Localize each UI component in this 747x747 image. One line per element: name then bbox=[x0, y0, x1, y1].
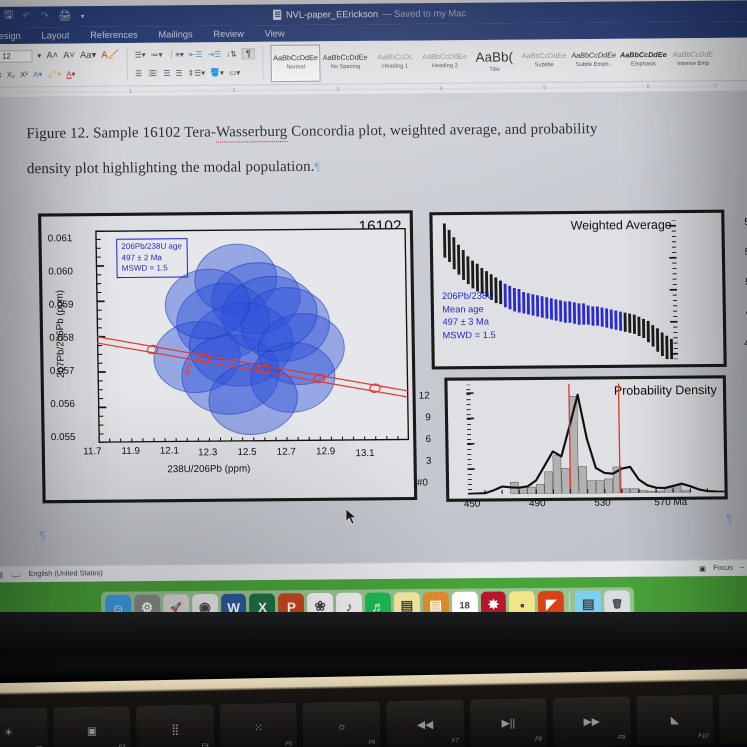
paragraph-mark-icon: ¶ bbox=[39, 528, 46, 543]
style-subtitle[interactable]: AaBbCcDdEe Subtitle bbox=[519, 42, 569, 80]
function-key[interactable]: ▶||F8 bbox=[469, 698, 547, 747]
y-tick-label: 9 bbox=[425, 412, 431, 423]
book-icon[interactable]: 📖 bbox=[11, 570, 20, 578]
x-tick-label: 12.9 bbox=[316, 446, 335, 458]
paragraph-mark-icon: ¶ bbox=[314, 159, 320, 174]
function-key-glyph-icon: ◀◀ bbox=[417, 719, 434, 731]
x-tick-label: 570 Ma bbox=[654, 497, 687, 509]
focus-icon[interactable]: ▣ bbox=[699, 564, 706, 572]
style-name: Heading 2 bbox=[432, 63, 458, 69]
tab-mailings[interactable]: Mailings bbox=[158, 29, 192, 40]
laptop-photo: ⌃ ⌅ ▱ ◀)) 87% NVL-paper_EErickson — Save… bbox=[0, 0, 747, 747]
align-left-icon[interactable]: ☰ bbox=[135, 70, 142, 78]
style-title[interactable]: AaBb( Title bbox=[469, 42, 519, 80]
page-icon[interactable]: ▤ bbox=[0, 570, 3, 578]
style-heading-2[interactable]: AaBbCcDdEe Heading 2 bbox=[420, 43, 470, 81]
caption-misspelled-word: Wasserburg bbox=[216, 123, 288, 142]
figure-caption: Figure 12. Sample 16102 Tera-Wasserburg … bbox=[26, 110, 731, 187]
dock-icon-glyph: ◤ bbox=[546, 596, 557, 613]
align-right-icon[interactable]: ☰ bbox=[163, 69, 170, 77]
function-key[interactable]: ⁙F5 bbox=[220, 703, 298, 747]
text-effects-icon[interactable]: A▾ bbox=[33, 70, 42, 78]
function-key[interactable]: ☼F6 bbox=[303, 701, 381, 747]
style-name: Emphasis bbox=[631, 61, 656, 67]
function-key[interactable]: ☀F2 bbox=[0, 708, 48, 747]
undo-icon[interactable]: ↶ bbox=[22, 11, 31, 22]
function-key-glyph-icon: ▶▶ bbox=[583, 716, 600, 728]
function-key-glyph-icon: ⁙ bbox=[254, 722, 263, 734]
quick-access-toolbar[interactable]: 🗅 🖫 ↶ ↷ 🖨 ▾ bbox=[0, 7, 85, 25]
concordia-plot-panel: 16102 0.061 0.060 0.059 0.058 0.057 0.05… bbox=[38, 210, 417, 503]
function-key-glyph-icon: ▶|| bbox=[501, 717, 515, 729]
probability-density-panel: Probability Density 12 9 6 3 #0 450 490 … bbox=[444, 375, 727, 502]
function-key[interactable]: ▶▶F9 bbox=[553, 697, 631, 747]
multilevel-list-icon[interactable]: ⋮≡▾ bbox=[168, 51, 184, 59]
save-icon[interactable]: 🖫 bbox=[4, 8, 13, 26]
y-tick-label: 0.061 bbox=[48, 233, 73, 245]
weighted-average-annotation: 206Pb/238U Mean age 497 ± 3 Ma MSWD = 1.… bbox=[442, 289, 496, 341]
ruler-mark: 1 bbox=[129, 88, 132, 94]
style-preview: AaBb( bbox=[475, 49, 513, 65]
x-tick-label: 11.7 bbox=[83, 446, 102, 458]
ruler-mark: 5 bbox=[543, 84, 546, 90]
style-preview: AaBbCcDdEe bbox=[620, 52, 667, 60]
style-preview: AaBbCcDdEe bbox=[522, 53, 567, 61]
style-emphasis[interactable]: AaBbCcDdEe Emphasis bbox=[618, 41, 668, 79]
x-tick-label: 12.5 bbox=[237, 447, 256, 459]
y-tick-label: 6 bbox=[426, 434, 432, 445]
style-subtle-emphasis[interactable]: AaBbCcDdEe Subtle Emph.. bbox=[569, 41, 619, 79]
x-tick-label: 450 bbox=[464, 498, 481, 510]
highlight-icon[interactable]: 🖍▾ bbox=[47, 70, 61, 78]
align-center-icon[interactable]: ☰ bbox=[147, 69, 158, 77]
style-name: Title bbox=[489, 67, 500, 73]
font-color-icon[interactable]: A▾ bbox=[66, 70, 75, 78]
weighted-average-panel: Weighted Average 206Pb/238U Mean age 497… bbox=[429, 210, 726, 370]
function-key-glyph-icon: ◣ bbox=[671, 714, 679, 726]
style-name: Normal bbox=[286, 64, 304, 70]
superscript-icon[interactable]: X² bbox=[20, 71, 28, 79]
tab-review[interactable]: Review bbox=[213, 29, 244, 40]
style-name: Subtle Emph.. bbox=[576, 62, 612, 69]
window-title: NVL-paper_EErickson bbox=[286, 9, 378, 20]
strikethrough-icon[interactable]: abc bbox=[0, 71, 2, 79]
style-preview: AaBbCcDdEe bbox=[273, 55, 318, 63]
function-key-glyph-icon: ⣿ bbox=[171, 724, 179, 736]
function-key-glyph-icon: ☼ bbox=[337, 721, 347, 733]
function-key-label: F6 bbox=[368, 740, 375, 746]
status-language[interactable]: English (United States) bbox=[28, 570, 102, 578]
styles-gallery[interactable]: AaBbCcDdEe Normal AaBbCcDdEe No Spacing … bbox=[266, 38, 718, 84]
ruler-mark: 7 bbox=[714, 83, 717, 89]
dock-icon-glyph: ▤ bbox=[582, 596, 595, 613]
ruler-mark: 3 bbox=[336, 86, 339, 92]
ribbon-body: ▾ 12 ▾ A˄ A˅ Aa▾ A🧹 abc X₂ X² A▾ 🖍▾ A▾ bbox=[0, 38, 747, 88]
y-tick-label: 3 bbox=[426, 455, 432, 466]
annotation-line: Mean age bbox=[442, 302, 495, 315]
style-no-spacing[interactable]: AaBbCcDdEe No Spacing bbox=[320, 44, 370, 82]
function-key-glyph-icon: ▣ bbox=[87, 725, 97, 737]
paragraph-mark-icon: ¶ bbox=[726, 512, 733, 527]
caption-part-2: Concordia plot, weighted average, and pr… bbox=[287, 121, 597, 140]
ruler-mark: 6 bbox=[647, 83, 650, 89]
function-key-glyph-icon: ☀ bbox=[4, 727, 14, 739]
dock-icon-glyph: 🗑 bbox=[611, 598, 623, 609]
dock-icon-glyph: ▪ bbox=[520, 597, 525, 613]
x-tick-label: 530 bbox=[594, 497, 611, 509]
annotation-line: MSWD = 1.5 bbox=[122, 263, 183, 274]
font-group: ▾ 12 ▾ A˄ A˅ Aa▾ A🧹 abc X₂ X² A▾ 🖍▾ A▾ bbox=[0, 43, 124, 87]
ruler-mark: 2 bbox=[233, 87, 236, 93]
zoom-out-icon[interactable]: − bbox=[740, 564, 744, 571]
y-tick-label: 0.055 bbox=[51, 432, 76, 444]
increase-indent-icon[interactable]: ⇥☰ bbox=[208, 50, 222, 58]
word-doc-icon bbox=[273, 10, 281, 20]
tab-design[interactable]: Design bbox=[0, 31, 21, 42]
function-key-row[interactable]: ☀F2▣F3⣿F4⁙F5☼F6◀◀F7▶||F8▶▶F9◣F10◢F11 bbox=[0, 693, 747, 747]
font-size-chevron-icon[interactable]: ▾ bbox=[37, 52, 41, 60]
print-icon[interactable]: 🖨 bbox=[58, 10, 71, 21]
style-name: Subtitle bbox=[535, 62, 554, 68]
function-key-label: F8 bbox=[535, 736, 542, 742]
function-key-label: F9 bbox=[618, 735, 625, 741]
decrease-indent-icon[interactable]: ⇤☰ bbox=[189, 50, 203, 58]
function-key-label: F7 bbox=[452, 738, 459, 744]
annotation-line: 206Pb/238U bbox=[442, 289, 495, 302]
x-tick-label: 12.7 bbox=[277, 446, 296, 458]
shrink-font-icon[interactable]: A˅ bbox=[63, 51, 75, 60]
line-spacing-icon[interactable]: ⇕☰▾ bbox=[188, 69, 205, 77]
redo-icon[interactable]: ↷ bbox=[40, 11, 49, 22]
laptop-screen: ⌃ ⌅ ▱ ◀)) 87% NVL-paper_EErickson — Save… bbox=[0, 0, 747, 645]
change-case-icon[interactable]: Aa▾ bbox=[80, 51, 96, 60]
justify-icon[interactable]: ☰ bbox=[176, 69, 183, 77]
x-tick-label: 12.1 bbox=[160, 445, 179, 457]
dock-icon-glyph: 18 bbox=[459, 600, 470, 610]
tab-references[interactable]: References bbox=[90, 29, 138, 40]
annotation-line: 206Pb/238U age bbox=[121, 241, 182, 252]
style-preview: AaBbCcDc bbox=[377, 54, 413, 62]
function-key[interactable]: ◢F11 bbox=[719, 693, 747, 743]
style-preview: AaBbCcDdEe bbox=[571, 52, 616, 60]
borders-icon[interactable]: ▭▾ bbox=[229, 69, 240, 77]
tab-view[interactable]: View bbox=[265, 28, 285, 39]
style-preview: AaBbCcDdEe bbox=[422, 54, 467, 62]
font-size-input[interactable]: 12 bbox=[0, 50, 32, 63]
function-key-label: F4 bbox=[202, 743, 209, 747]
function-key[interactable]: ⣿F4 bbox=[136, 705, 214, 747]
concordia-y-axis-label: 207Pb/206Pb (ppm) bbox=[54, 266, 68, 403]
keyboard-deck: ☀F2▣F3⣿F4⁙F5☼F6◀◀F7▶||F8▶▶F9◣F10◢F11 bbox=[0, 668, 747, 747]
shading-icon[interactable]: 🪣▾ bbox=[210, 69, 224, 77]
window-save-state: — Saved to my Mac bbox=[382, 8, 466, 19]
concordia-x-axis-label: 238U/206Pb (ppm) bbox=[167, 463, 250, 475]
style-preview: AaBbCcDdE bbox=[673, 51, 714, 59]
x-tick-label: 11.9 bbox=[121, 446, 140, 458]
function-key-label: F5 bbox=[285, 741, 292, 747]
focus-label[interactable]: Focus bbox=[713, 565, 733, 572]
concordia-annotation-box: 206Pb/238U age 497 ± 2 Ma MSWD = 1.5 bbox=[116, 238, 188, 277]
function-key[interactable]: ▣F3 bbox=[53, 706, 131, 747]
sort-icon[interactable]: ↓⇅ bbox=[226, 50, 237, 58]
style-intense-emphasis[interactable]: AaBbCcDdE Intense Emp bbox=[668, 40, 718, 78]
grow-font-icon[interactable]: A˄ bbox=[46, 51, 58, 60]
function-key[interactable]: ◣F10 bbox=[636, 695, 714, 745]
style-name: No Spacing bbox=[331, 64, 361, 70]
style-normal[interactable]: AaBbCcDdEe Normal bbox=[271, 44, 321, 82]
document-page[interactable]: Figure 12. Sample 16102 Tera-Wasserburg … bbox=[0, 91, 747, 582]
style-name: Heading 1 bbox=[382, 63, 408, 69]
customize-chevron-icon[interactable]: ▾ bbox=[81, 12, 85, 20]
ruler-mark: 4 bbox=[440, 85, 443, 91]
x-tick-label: 490 bbox=[529, 498, 546, 510]
x-tick-label: 13.1 bbox=[355, 448, 374, 460]
caption-line-2: density plot highlighting the modal popu… bbox=[27, 158, 315, 177]
function-key-label: F10 bbox=[698, 733, 708, 740]
function-key[interactable]: ◀◀F7 bbox=[386, 700, 464, 747]
y-tick-label: 12 bbox=[419, 390, 430, 401]
screen-bezel bbox=[0, 612, 747, 652]
annotation-line: 497 ± 3 Ma bbox=[442, 315, 495, 328]
figure-12-graphic[interactable]: 16102 0.061 0.060 0.059 0.058 0.057 0.05… bbox=[38, 208, 726, 509]
probability-density-plot-area bbox=[466, 382, 724, 494]
dock-icon-glyph: ✸ bbox=[488, 597, 500, 614]
annotation-line: 497 ± 2 Ma bbox=[121, 252, 182, 263]
subscript-icon[interactable]: X₂ bbox=[7, 71, 15, 79]
paragraph-group: ☰▾ ≔▾ ⋮≡▾ ⇤☰ ⇥☰ ↓⇅ ¶ ☰ ☰ ☰ ☰ ⇕☰▾ 🪣▾ ▭▾ bbox=[130, 42, 259, 86]
tab-layout[interactable]: Layout bbox=[41, 30, 69, 41]
clear-formatting-icon[interactable]: A🧹 bbox=[101, 50, 119, 59]
y-tick-label: #0 bbox=[417, 477, 428, 488]
bullets-icon[interactable]: ☰▾ bbox=[135, 51, 146, 59]
numbering-icon[interactable]: ≔▾ bbox=[151, 51, 163, 59]
style-preview: AaBbCcDdEe bbox=[323, 54, 368, 62]
annotation-line: MSWD = 1.5 bbox=[443, 328, 496, 341]
style-heading-1[interactable]: AaBbCcDc Heading 1 bbox=[370, 43, 420, 81]
style-name: Intense Emp bbox=[677, 61, 709, 67]
x-tick-label: 12.3 bbox=[198, 447, 217, 459]
caption-part-1: Figure 12. Sample 16102 Tera- bbox=[26, 124, 216, 142]
show-marks-icon[interactable]: ¶ bbox=[242, 48, 255, 59]
